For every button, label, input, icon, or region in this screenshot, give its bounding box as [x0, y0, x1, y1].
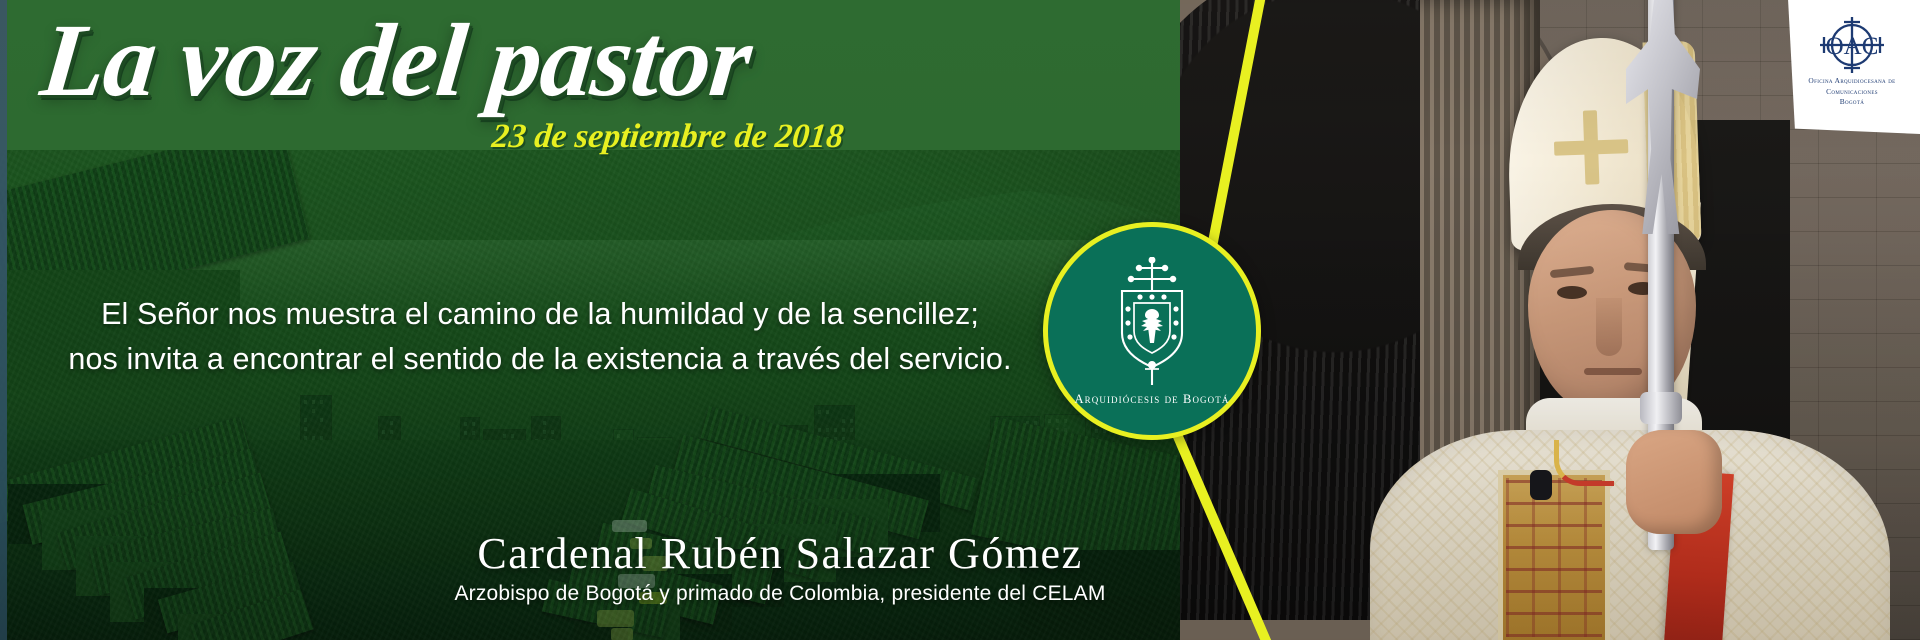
voz-del-pastor-banner: La voz del pastor 23 de septiembre de 20… — [0, 0, 1920, 640]
mouth — [1584, 368, 1642, 375]
pastoral-quote: El Señor nos muestra el camino de la hum… — [50, 292, 1030, 382]
lapel-microphone — [1530, 470, 1552, 500]
oac-caption-line-3: Bogotá — [1790, 97, 1914, 108]
quote-line-2: nos invita a encontrar el sentido de la … — [50, 337, 1030, 382]
left-edge-strip — [0, 0, 7, 640]
crozier-knob — [1640, 392, 1682, 424]
oac-acronym: OAC — [1826, 33, 1879, 60]
oac-cross-circle-icon: OAC — [1806, 16, 1898, 74]
emblem-caption: Arquidiócesis de Bogotá — [1048, 392, 1256, 407]
mitre-cross-icon — [1553, 109, 1630, 186]
arquidiocesis-emblem[interactable]: Arquidiócesis de Bogotá — [1043, 222, 1261, 440]
oac-caption-line-2: Comunicaciones — [1790, 87, 1914, 98]
hand — [1626, 430, 1722, 534]
oac-logo[interactable]: OAC Oficina Arquidiocesana de Comunicaci… — [1784, 0, 1920, 134]
pectoral-cross-cord — [1554, 440, 1614, 486]
page-title: La voz del pastor — [36, 6, 756, 115]
oac-caption: Oficina Arquidiocesana de Comunicaciones… — [1790, 76, 1914, 108]
orphrey-motif — [1506, 478, 1602, 637]
coat-of-arms-eagle-icon — [1100, 257, 1204, 389]
eyebrow-left — [1550, 266, 1595, 279]
eye-left — [1557, 286, 1587, 299]
orphrey-band — [1498, 470, 1610, 640]
speaker-name: Cardenal Rubén Salazar Gómez — [380, 528, 1180, 579]
oac-caption-line-1: Oficina Arquidiocesana de — [1790, 76, 1914, 87]
quote-line-1: El Señor nos muestra el camino de la hum… — [50, 292, 1030, 337]
broadcast-date: 23 de septiembre de 2018 — [490, 118, 845, 156]
speaker-role: Arzobispo de Bogotá y primado de Colombi… — [380, 582, 1180, 606]
nose — [1596, 298, 1622, 356]
